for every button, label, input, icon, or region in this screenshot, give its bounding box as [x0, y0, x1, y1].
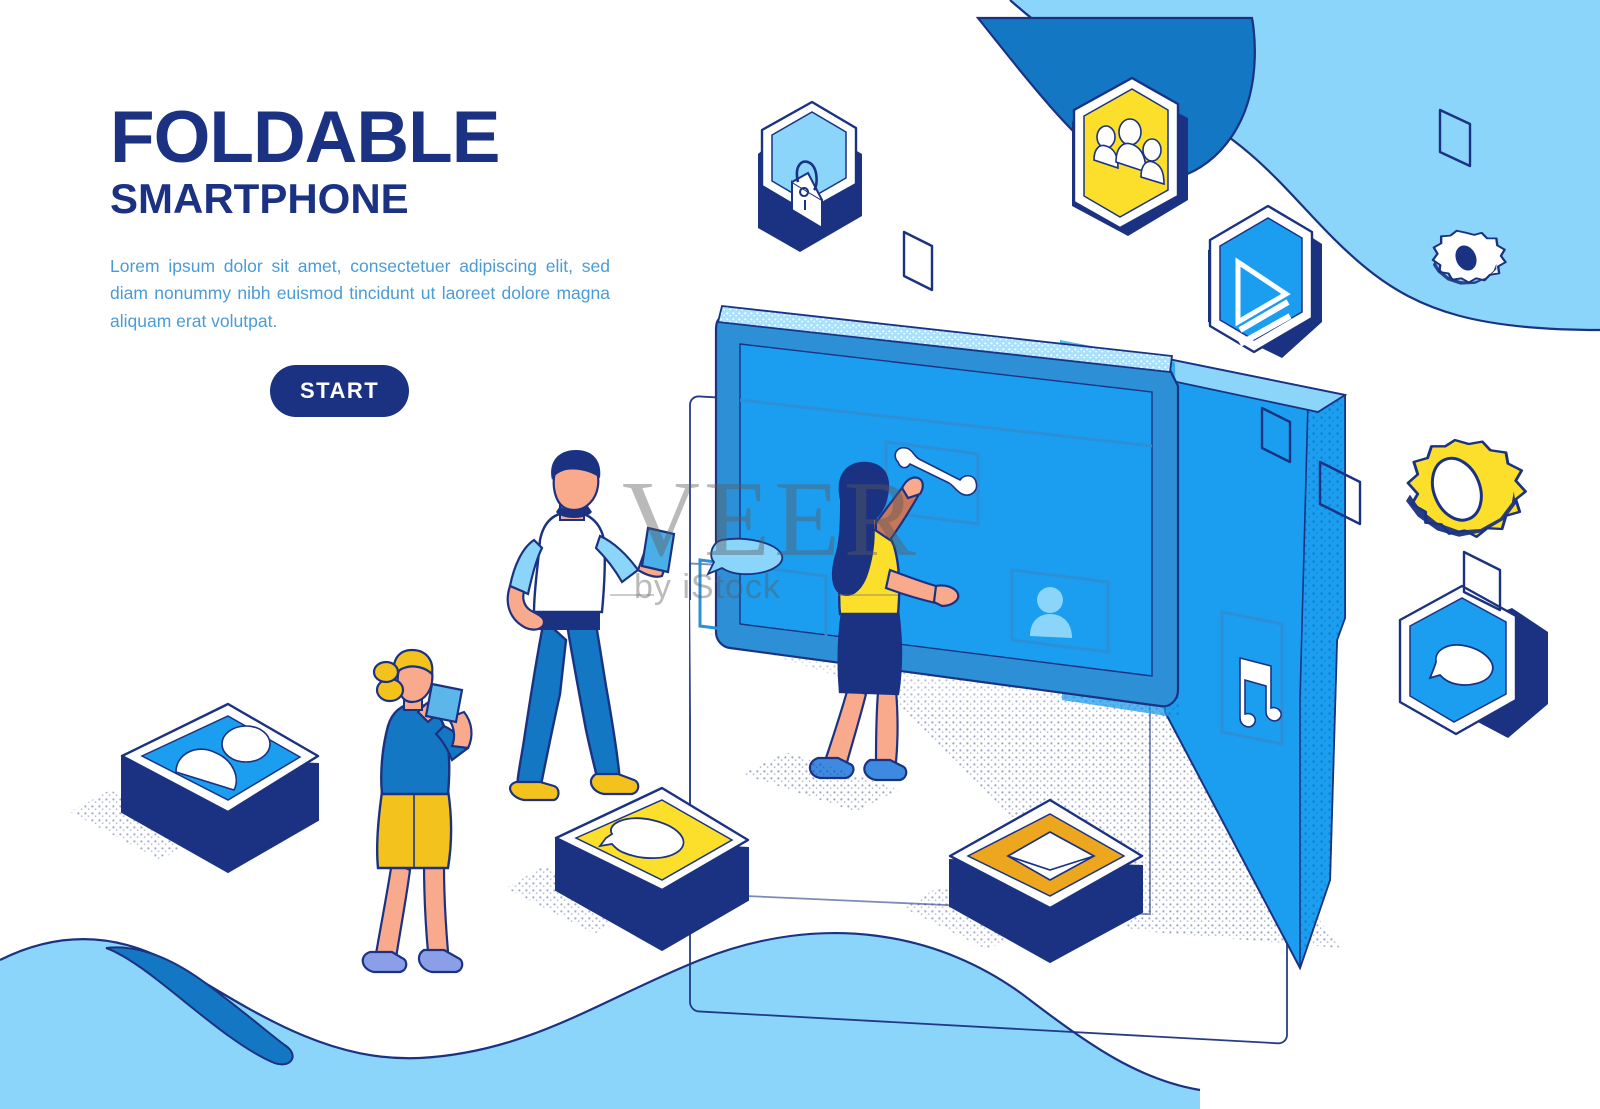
hair-bun-2	[374, 662, 398, 682]
page-title: FOLDABLE	[110, 104, 630, 171]
start-button[interactable]: START	[270, 365, 409, 417]
hero-description: Lorem ipsum dolor sit amet, consectetuer…	[110, 253, 610, 334]
character-man-with-phone	[508, 450, 674, 800]
shoe-left	[363, 952, 407, 972]
held-smartphone	[642, 528, 674, 572]
character-woman-at-screen	[810, 462, 958, 780]
hero-text-block: FOLDABLE SMARTPHONE Lorem ipsum dolor si…	[110, 104, 630, 417]
shoe-right	[591, 774, 638, 794]
character-woman-with-tablet	[363, 650, 472, 972]
held-tablet	[426, 684, 462, 722]
shoe-right	[864, 760, 906, 780]
shoe-right	[419, 950, 462, 972]
page-subtitle: SMARTPHONE	[110, 177, 630, 221]
shoe-left	[510, 782, 558, 800]
illustration-stage: FOLDABLE SMARTPHONE Lorem ipsum dolor si…	[0, 0, 1600, 1109]
